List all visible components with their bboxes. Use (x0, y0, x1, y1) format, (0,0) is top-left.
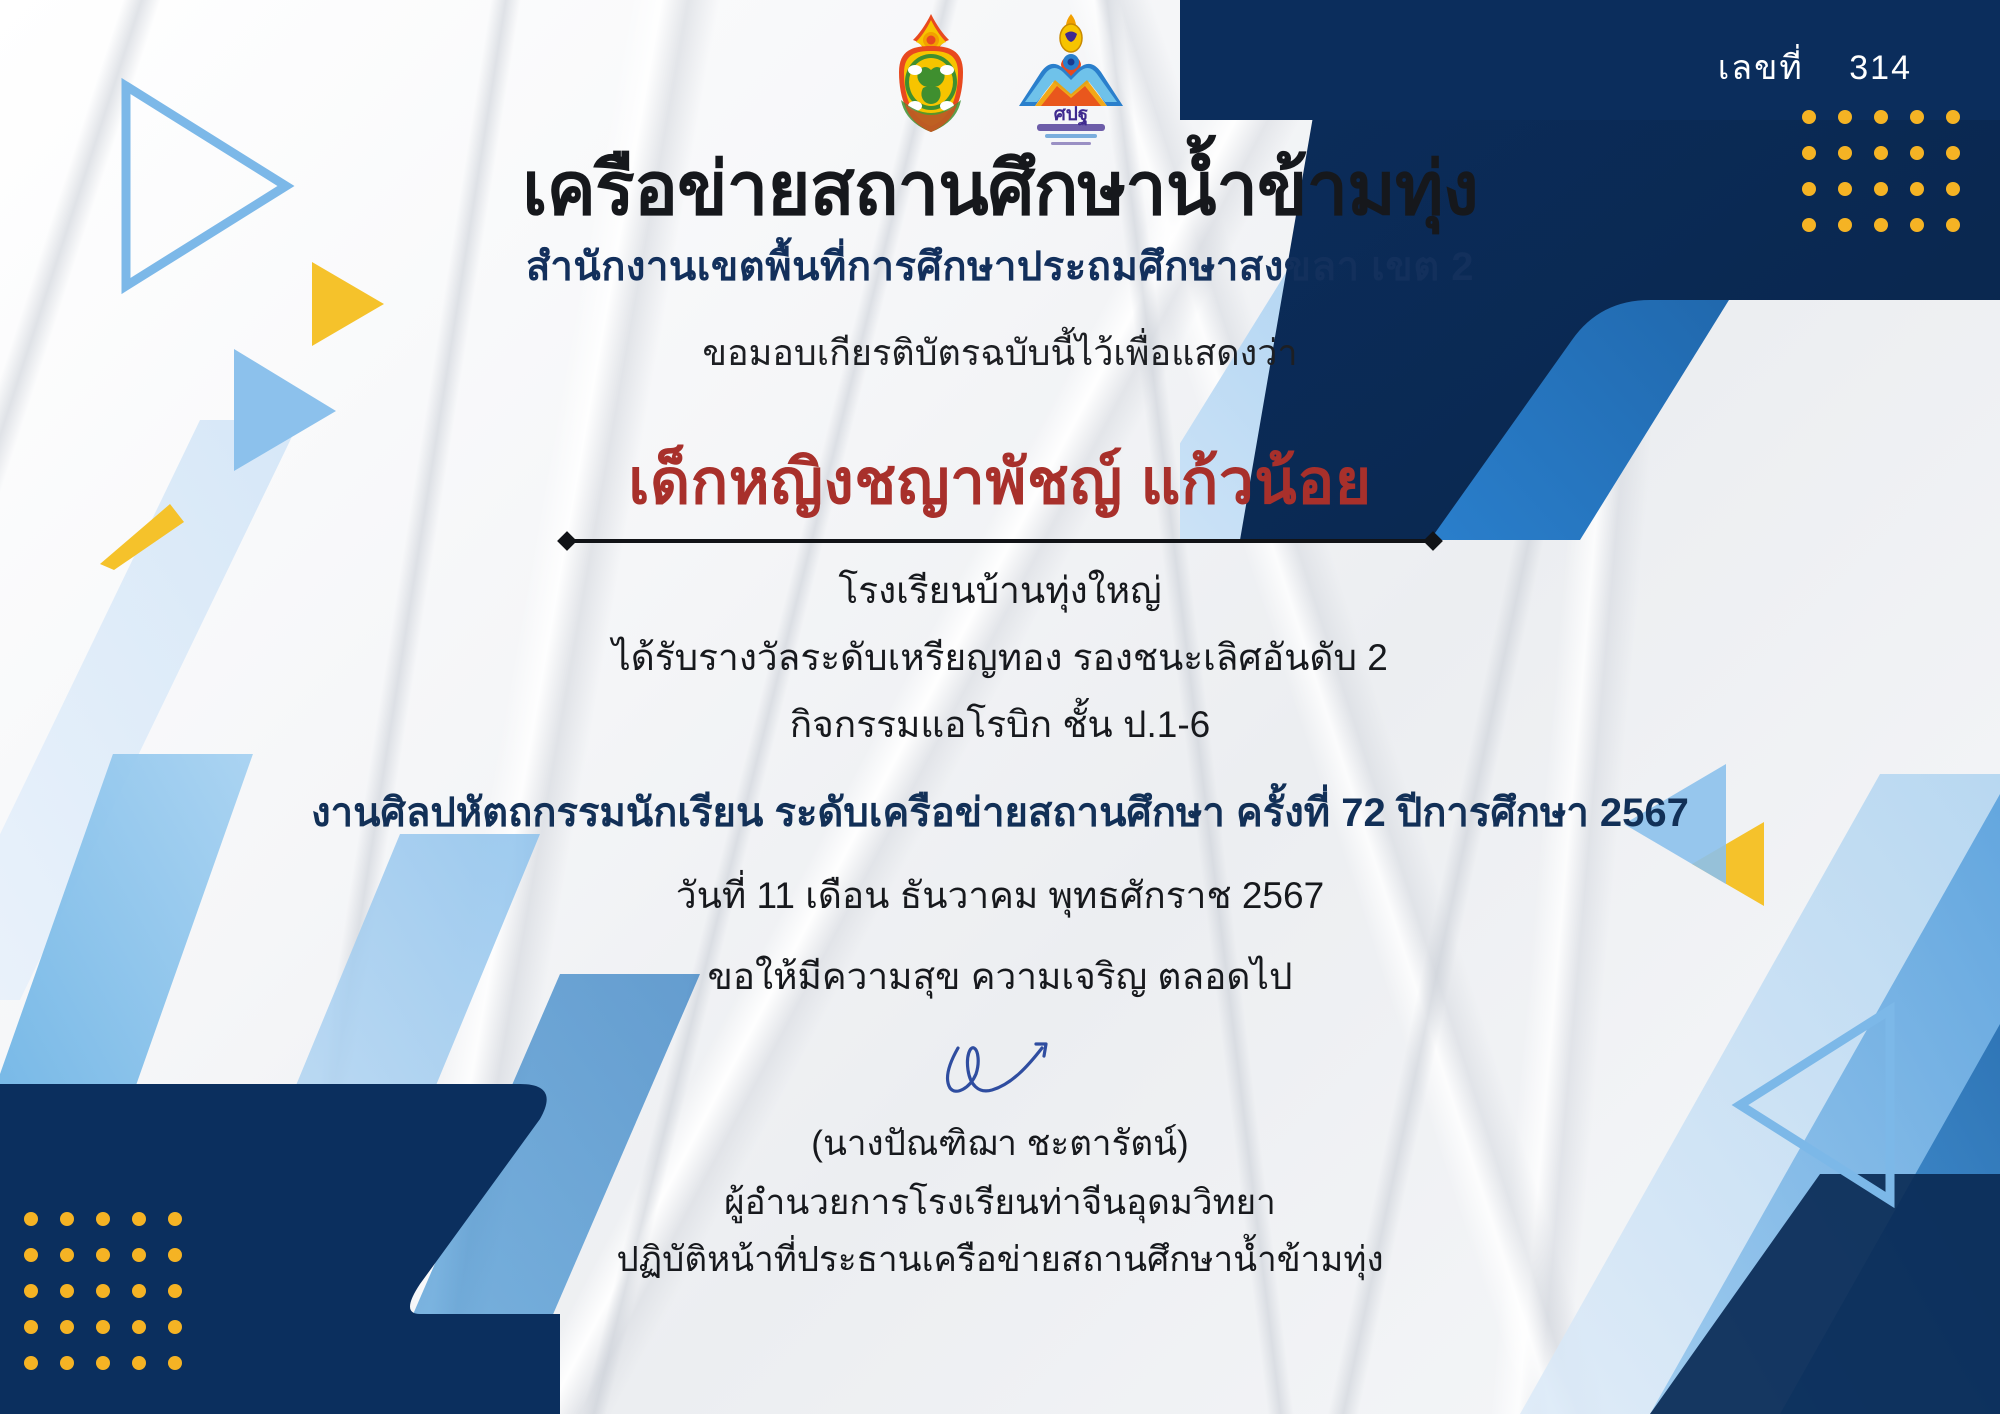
grant-statement: ขอมอบเกียรติบัตรฉบับนี้ไว้เพื่อแสดงว่า (702, 324, 1297, 381)
recipient-name: เด็กหญิงชญาพัชญ์ แก้วน้อย (628, 433, 1371, 531)
svg-text:ศปฐ: ศปฐ (1054, 104, 1089, 127)
signer-role-secondary: ปฏิบัติหน้าที่ประธานเครือข่ายสถานศึกษาน้… (616, 1232, 1383, 1287)
rule-bar (574, 539, 1426, 543)
office-subtitle: สำนักงานเขตพื้นที่การศึกษาประถมศึกษาสงขล… (526, 234, 1474, 298)
school-name: โรงเรียนบ้านทุ่งใหญ่ (838, 561, 1161, 620)
logo-row: ศปฐ (871, 10, 1129, 148)
activity-line: กิจกรรมแอโรบิก ชั้น ป.1-6 (790, 695, 1211, 754)
document-number: เลขที่ 314 (1718, 40, 1912, 94)
issue-date: วันที่ 11 เดือน ธันวาคม พุทธศักราช 2567 (676, 866, 1324, 925)
event-name: งานศิลปหัตถกรรมนักเรียน ระดับเครือข่ายสถ… (311, 780, 1689, 844)
award-line: ได้รับรางวัลระดับเหรียญทอง รองชนะเลิศอัน… (612, 628, 1388, 687)
name-underline-rule (560, 535, 1440, 547)
document-number-value: 314 (1849, 49, 1912, 87)
signer-name: (นางปัณฑิฌา ชะตารัตน์) (811, 1116, 1188, 1171)
document-number-label: เลขที่ (1718, 49, 1804, 87)
sillapahatthakam-event-logo-icon: ศปฐ (1011, 10, 1129, 148)
certificate-canvas: เลขที่ 314 (0, 0, 2000, 1414)
certificate-content: ศปฐ เครือข่ายสถานศึกษาน้ำข้ามทุ่ง สำนักง… (0, 0, 2000, 1414)
page-title: เครือข่ายสถานศึกษาน้ำข้ามทุ่ง (522, 150, 1478, 228)
wish-line: ขอให้มีความสุข ความเจริญ ตลอดไป (708, 947, 1293, 1006)
signature-mark-icon (900, 1022, 1100, 1114)
rule-diamond-right (1423, 531, 1443, 551)
signer-role-primary: ผู้อำนวยการโรงเรียนท่าจีนอุดมวิทยา (724, 1175, 1276, 1230)
obec-garuda-emblem-icon (871, 10, 989, 148)
